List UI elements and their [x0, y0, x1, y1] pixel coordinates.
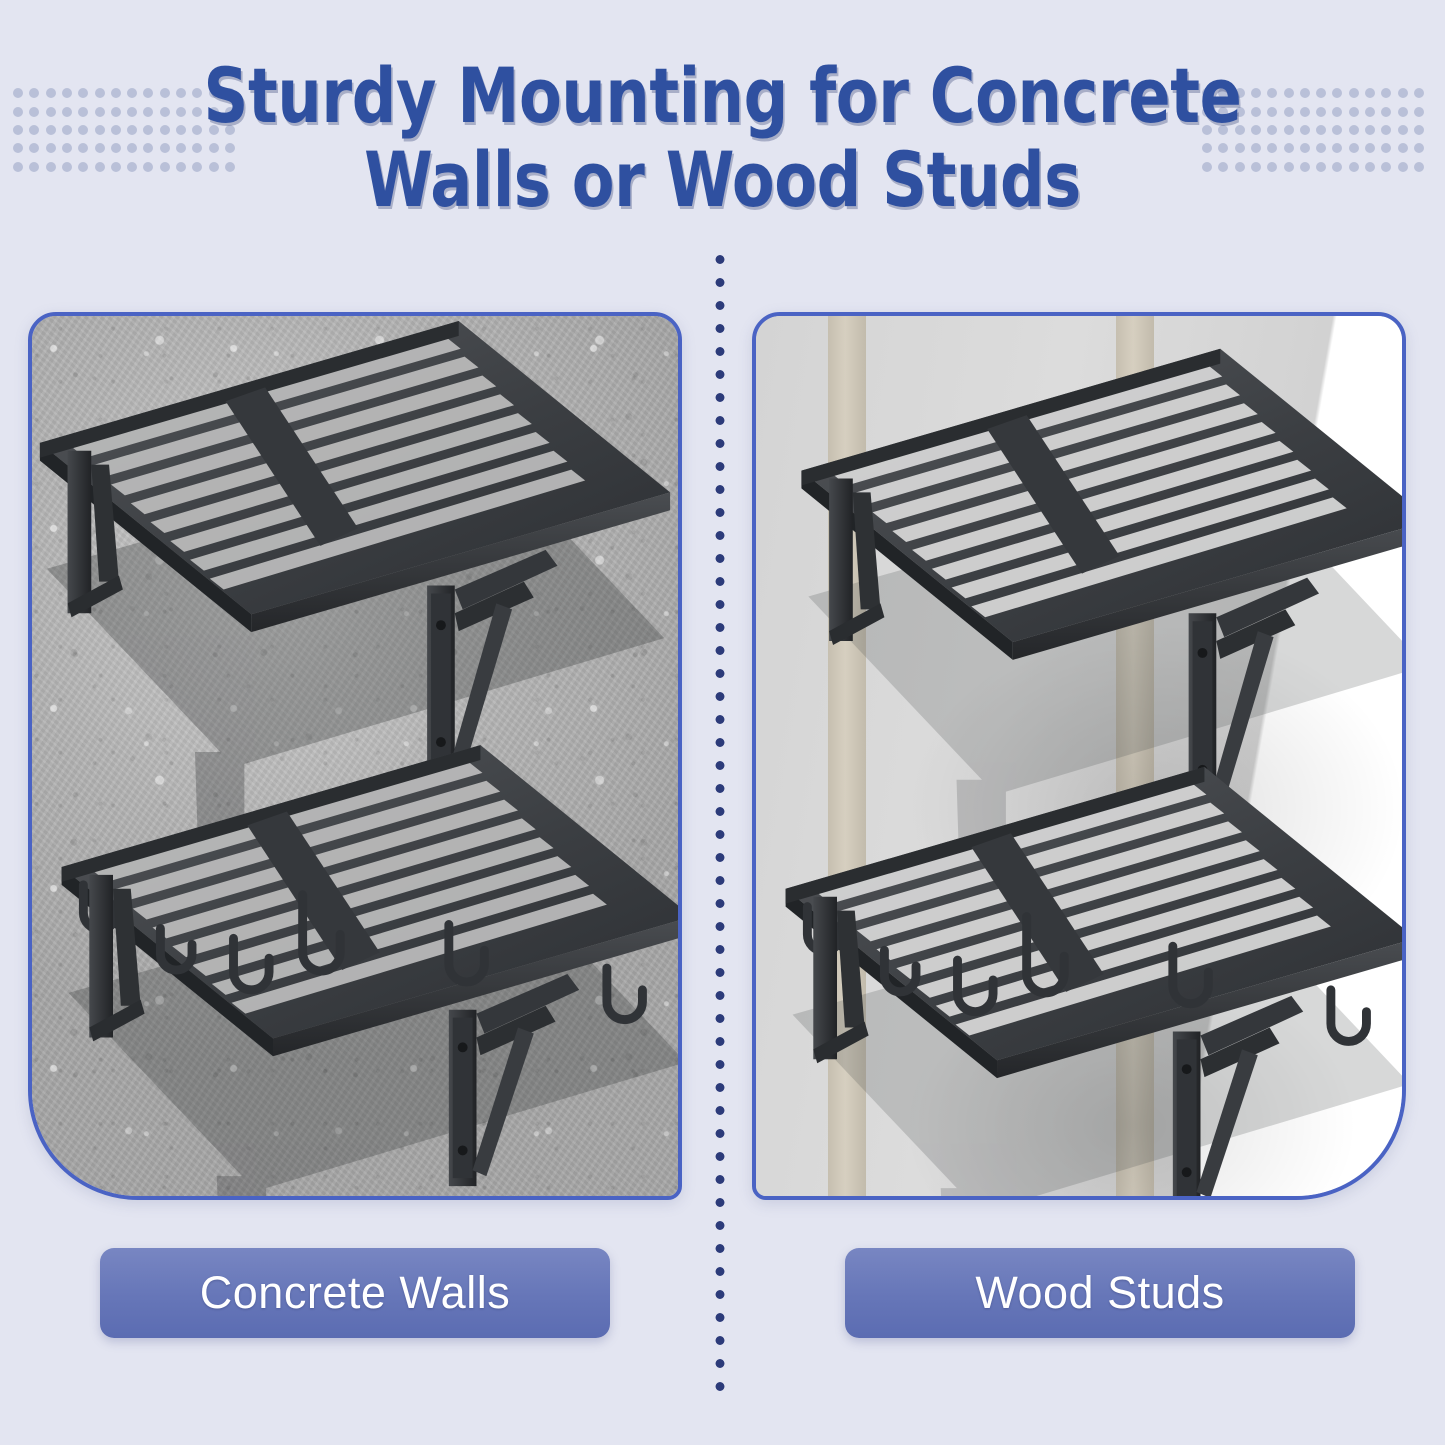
- decor-dot: [111, 88, 121, 98]
- decor-dot: [1202, 125, 1212, 135]
- decor-dot: [192, 88, 202, 98]
- decor-dot: [1218, 125, 1228, 135]
- decor-dot: [176, 88, 186, 98]
- decor-dot: [1381, 107, 1391, 117]
- decor-dot: [1251, 88, 1261, 98]
- decor-dot: [176, 125, 186, 135]
- decor-dot: [225, 107, 235, 117]
- decor-dot: [1349, 88, 1359, 98]
- decor-dot: [29, 162, 39, 172]
- decor-dot: [1365, 125, 1375, 135]
- decor-dot: [1365, 107, 1375, 117]
- decor-dot: [29, 88, 39, 98]
- decor-dot: [1414, 125, 1424, 135]
- decor-dot: [1381, 162, 1391, 172]
- decor-dot: [176, 162, 186, 172]
- decor-dot: [1267, 125, 1277, 135]
- decor-dot: [1267, 107, 1277, 117]
- decor-dot: [78, 125, 88, 135]
- decor-dot: [1332, 125, 1342, 135]
- decor-dot: [111, 107, 121, 117]
- decor-dot: [62, 162, 72, 172]
- decor-dot: [192, 125, 202, 135]
- decor-dot: [1235, 88, 1245, 98]
- decor-dot: [1414, 143, 1424, 153]
- decor-dot: [1332, 88, 1342, 98]
- decor-dot: [1235, 143, 1245, 153]
- decor-dot: [209, 143, 219, 153]
- decor-dot: [1235, 107, 1245, 117]
- decor-dot: [127, 88, 137, 98]
- decor-dot: [29, 107, 39, 117]
- decor-dot: [160, 125, 170, 135]
- decor-dot: [1332, 107, 1342, 117]
- decor-dot: [62, 143, 72, 153]
- page-title-line-2: Walls or Wood Studs: [130, 138, 1315, 222]
- panel-concrete-walls: [28, 312, 682, 1200]
- decor-dot: [127, 143, 137, 153]
- decor-dot: [176, 107, 186, 117]
- decor-dot: [1218, 88, 1228, 98]
- decor-dot: [160, 143, 170, 153]
- shelf-illustration-wood-studs: [756, 316, 1402, 1196]
- decor-dot: [1316, 88, 1326, 98]
- decor-dot: [1349, 107, 1359, 117]
- decor-dot: [1267, 162, 1277, 172]
- decor-dot: [1316, 143, 1326, 153]
- decor-dot: [111, 125, 121, 135]
- dot-grid-right-decoration: [1199, 84, 1427, 176]
- vertical-dotted-divider: [713, 248, 727, 1394]
- decor-dot: [176, 143, 186, 153]
- decor-dot: [1218, 143, 1228, 153]
- decor-dot: [1332, 143, 1342, 153]
- decor-dot: [95, 125, 105, 135]
- decor-dot: [1202, 88, 1212, 98]
- decor-dot: [1349, 162, 1359, 172]
- decor-dot: [95, 143, 105, 153]
- decor-dot: [1267, 143, 1277, 153]
- decor-dot: [46, 88, 56, 98]
- decor-dot: [78, 143, 88, 153]
- decor-dot: [1218, 107, 1228, 117]
- decor-dot: [13, 143, 23, 153]
- caption-label-wood-studs: Wood Studs: [975, 1267, 1224, 1319]
- decor-dot: [78, 107, 88, 117]
- caption-label-concrete-walls: Concrete Walls: [200, 1267, 510, 1319]
- decor-dot: [46, 107, 56, 117]
- decor-dot: [62, 125, 72, 135]
- lower-shelf-studs: [786, 767, 1402, 1196]
- decor-dot: [160, 162, 170, 172]
- decor-dot: [29, 125, 39, 135]
- decor-dot: [13, 162, 23, 172]
- decor-dot: [1202, 107, 1212, 117]
- decor-dot: [1365, 88, 1375, 98]
- decor-dot: [127, 162, 137, 172]
- decor-dot: [1235, 162, 1245, 172]
- decor-dot: [225, 88, 235, 98]
- decor-dot: [1202, 162, 1212, 172]
- decor-dot: [13, 88, 23, 98]
- decor-dot: [192, 107, 202, 117]
- decor-dot: [1300, 107, 1310, 117]
- decor-dot: [1398, 107, 1408, 117]
- decor-dot: [1381, 88, 1391, 98]
- decor-dot: [1235, 125, 1245, 135]
- decor-dot: [1349, 125, 1359, 135]
- decor-dot: [1300, 125, 1310, 135]
- decor-dot: [127, 125, 137, 135]
- decor-dot: [1251, 162, 1261, 172]
- decor-dot: [1381, 125, 1391, 135]
- decor-dot: [209, 107, 219, 117]
- decor-dot: [143, 125, 153, 135]
- decor-dot: [1398, 88, 1408, 98]
- decor-dot: [1381, 143, 1391, 153]
- page-title-line-1: Sturdy Mounting for Concrete: [130, 54, 1315, 138]
- caption-pill-wood-studs[interactable]: Wood Studs: [845, 1248, 1355, 1338]
- decor-dot: [29, 143, 39, 153]
- decor-dot: [1316, 107, 1326, 117]
- decor-dot: [1316, 125, 1326, 135]
- decor-dot: [1349, 143, 1359, 153]
- lower-shelf-concrete: [62, 745, 678, 1196]
- decor-dot: [1284, 143, 1294, 153]
- decor-dot: [95, 162, 105, 172]
- decor-dot: [46, 143, 56, 153]
- decor-dot: [192, 162, 202, 172]
- decor-dot: [1300, 162, 1310, 172]
- decor-dot: [160, 88, 170, 98]
- decor-dot: [1284, 88, 1294, 98]
- decor-dot: [225, 143, 235, 153]
- decor-dot: [62, 88, 72, 98]
- panel-wood-studs: [752, 312, 1406, 1200]
- decor-dot: [1300, 143, 1310, 153]
- decor-dot: [1284, 125, 1294, 135]
- decor-dot: [1251, 125, 1261, 135]
- decor-dot: [1284, 162, 1294, 172]
- decor-dot: [78, 88, 88, 98]
- decor-dot: [209, 125, 219, 135]
- decor-dot: [1202, 143, 1212, 153]
- infographic-page: Sturdy Mounting for Concrete Walls or Wo…: [0, 0, 1445, 1445]
- decor-dot: [1365, 162, 1375, 172]
- decor-dot: [143, 88, 153, 98]
- decor-dot: [1414, 88, 1424, 98]
- decor-dot: [1365, 143, 1375, 153]
- decor-dot: [209, 162, 219, 172]
- decor-dot: [225, 125, 235, 135]
- decor-dot: [1284, 107, 1294, 117]
- decor-dot: [1332, 162, 1342, 172]
- decor-dot: [209, 88, 219, 98]
- panel-wood-studs-inner: [756, 316, 1402, 1196]
- panel-concrete-inner: [32, 316, 678, 1196]
- decor-dot: [160, 107, 170, 117]
- decor-dot: [46, 162, 56, 172]
- decor-dot: [46, 125, 56, 135]
- dot-grid-left-decoration: [10, 84, 238, 176]
- decor-dot: [1414, 107, 1424, 117]
- decor-dot: [1251, 107, 1261, 117]
- decor-dot: [62, 107, 72, 117]
- decor-dot: [1316, 162, 1326, 172]
- decor-dot: [1267, 88, 1277, 98]
- decor-dot: [13, 107, 23, 117]
- decor-dot: [1398, 162, 1408, 172]
- shelf-illustration-concrete: [32, 316, 678, 1196]
- decor-dot: [225, 162, 235, 172]
- decor-dot: [143, 143, 153, 153]
- decor-dot: [95, 88, 105, 98]
- decor-dot: [1218, 162, 1228, 172]
- decor-dot: [1414, 162, 1424, 172]
- decor-dot: [13, 125, 23, 135]
- decor-dot: [192, 143, 202, 153]
- decor-dot: [143, 107, 153, 117]
- caption-pill-concrete-walls[interactable]: Concrete Walls: [100, 1248, 610, 1338]
- decor-dot: [1398, 125, 1408, 135]
- decor-dot: [111, 143, 121, 153]
- decor-dot: [1251, 143, 1261, 153]
- decor-dot: [95, 107, 105, 117]
- decor-dot: [1398, 143, 1408, 153]
- decor-dot: [111, 162, 121, 172]
- decor-dot: [143, 162, 153, 172]
- decor-dot: [127, 107, 137, 117]
- decor-dot: [78, 162, 88, 172]
- decor-dot: [1300, 88, 1310, 98]
